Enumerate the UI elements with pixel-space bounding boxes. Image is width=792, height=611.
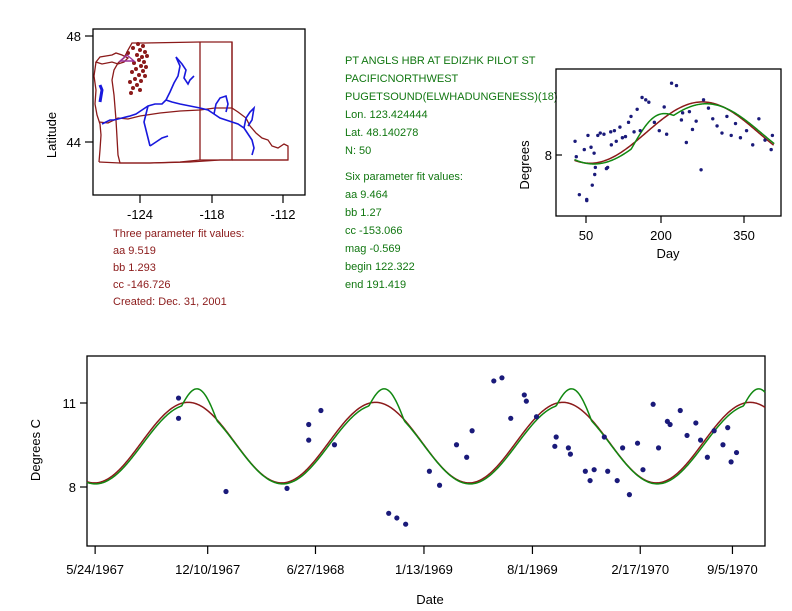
three-parameter-fit-block: Three parameter fit values: aa 9.519 bb … [113,228,244,308]
day-chart-ytick-8: 8 [545,148,552,163]
three-param-title: Three parameter fit values: [113,228,244,240]
ts-xtick-label: 1/13/1969 [395,562,453,577]
ts-xtick-label: 8/1/1969 [507,562,558,577]
ts-xtick-label: 2/17/1970 [611,562,669,577]
map-ytick-48: 48 [67,29,81,44]
time-series-chart: Degrees C 11 8 5/24/196712/10/19676/27/1… [0,340,792,611]
map-xtick-112: -112 [270,207,295,222]
ts-ytick-11: 11 [63,396,77,411]
ts-xtick-label: 12/10/1967 [175,562,240,577]
ts-xtick-marks [95,546,732,554]
three-param-aa: aa 9.519 [113,245,244,257]
map-rivers [100,57,254,155]
ts-ytick-8: 8 [69,480,76,495]
ts-xtick-label: 5/24/1967 [66,562,124,577]
ts-fit-curves [87,389,765,484]
three-param-bb: bb 1.293 [113,262,244,274]
day-chart-points [573,82,774,203]
day-chart-ylabel: Degrees [517,140,532,190]
day-chart-xtick-50: 50 [579,228,593,243]
three-param-cc: cc -146.726 [113,279,244,291]
time-series-svg: Degrees C 11 8 5/24/196712/10/19676/27/1… [0,340,792,611]
map-ytick-44: 44 [67,135,81,150]
map-ylabel: Latitude [44,112,59,158]
day-chart-xtick-200: 200 [650,228,672,243]
ts-xtick-label: 6/27/1968 [287,562,345,577]
day-chart-xlabel: Day [656,246,680,261]
day-of-year-svg: Degrees 8 50 200 350 Day [500,50,792,265]
ts-xtick-label: 9/5/1970 [707,562,758,577]
day-of-year-chart: Degrees 8 50 200 350 Day [500,50,792,265]
map-frame [93,29,305,195]
map-xtick-118: -118 [199,207,224,222]
six-param-end: end 191.419 [345,279,558,291]
ts-xtick-labels: 5/24/196712/10/19676/27/19681/13/19698/1… [66,562,758,577]
day-chart-xtick-350: 350 [733,228,755,243]
ts-points [176,375,739,527]
ts-ylabel: Degrees C [28,419,43,481]
created-date: Created: Dec. 31, 2001 [113,296,244,308]
ts-frame [87,356,765,546]
map-xtick-124: -124 [127,207,153,222]
day-chart-frame [556,69,781,216]
map-station-markers [126,42,149,95]
map-svg: Latitude 48 44 -124 -118 -112 [0,0,330,240]
map-state-outlines [94,42,288,163]
map-panel: Latitude 48 44 -124 -118 -112 [0,0,330,240]
ts-xlabel: Date [416,592,443,607]
